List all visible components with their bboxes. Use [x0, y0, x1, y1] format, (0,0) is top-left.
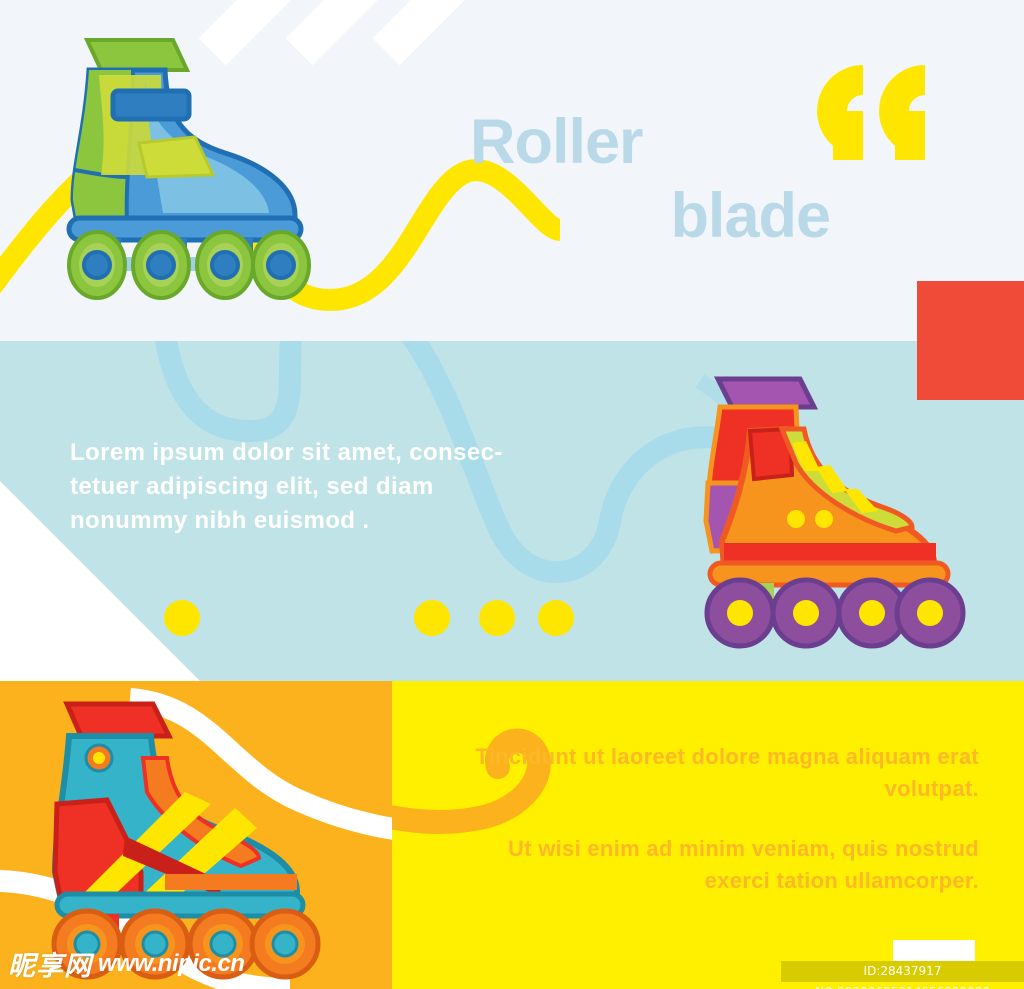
bottom-paragraph-1: Tincidunt ut laoreet dolore magna aliqua…: [459, 741, 979, 805]
body-paragraph: Lorem ipsum dolor sit amet, consec- tetu…: [70, 436, 590, 538]
body-line-1: Lorem ipsum dolor sit amet, consec-: [70, 439, 503, 466]
blue-green-inline-skate-illustration: [55, 25, 355, 325]
white-rect-decor: [893, 940, 975, 963]
yellow-dot-decor: [164, 600, 200, 636]
poster-root: Roller blade Lorem ipsum dolor sit amet,…: [0, 0, 1024, 989]
yellow-dot-decor: [479, 600, 515, 636]
site-name-cn: 昵享网: [8, 944, 92, 983]
yellow-dot-decor: [414, 600, 450, 636]
bottom-paragraphs: Tincidunt ut laoreet dolore magna aliqua…: [459, 741, 979, 897]
body-line-3: nonummy nibh euismod .: [70, 507, 369, 534]
orange-purple-inline-skate-illustration: [700, 371, 970, 661]
title-line-2: blade: [470, 179, 870, 253]
top-section: Roller blade: [0, 0, 1024, 341]
bottom-section: Tincidunt ut laoreet dolore magna aliqua…: [0, 681, 1024, 989]
page-title: Roller blade: [470, 105, 870, 253]
red-square-decor: [917, 281, 1024, 400]
teal-red-inline-skate-illustration: [45, 696, 335, 986]
body-line-2: tetuer adipiscing elit, sed diam: [70, 473, 434, 500]
site-watermark: 昵享网 www.nipic.cn: [8, 944, 244, 983]
quote-mark-icon: [817, 65, 927, 160]
middle-section: Lorem ipsum dolor sit amet, consec- tetu…: [0, 341, 1024, 681]
image-id-strip: ID:28437917 NO:20200625214656899080: [781, 961, 1024, 982]
yellow-dot-decor: [538, 600, 574, 636]
title-line-1: Roller: [470, 105, 870, 179]
site-url: www.nipic.cn: [98, 950, 244, 978]
bottom-paragraph-2: Ut wisi enim ad minim veniam, quis nostr…: [459, 833, 979, 897]
bottom-left-panel: [0, 681, 392, 989]
